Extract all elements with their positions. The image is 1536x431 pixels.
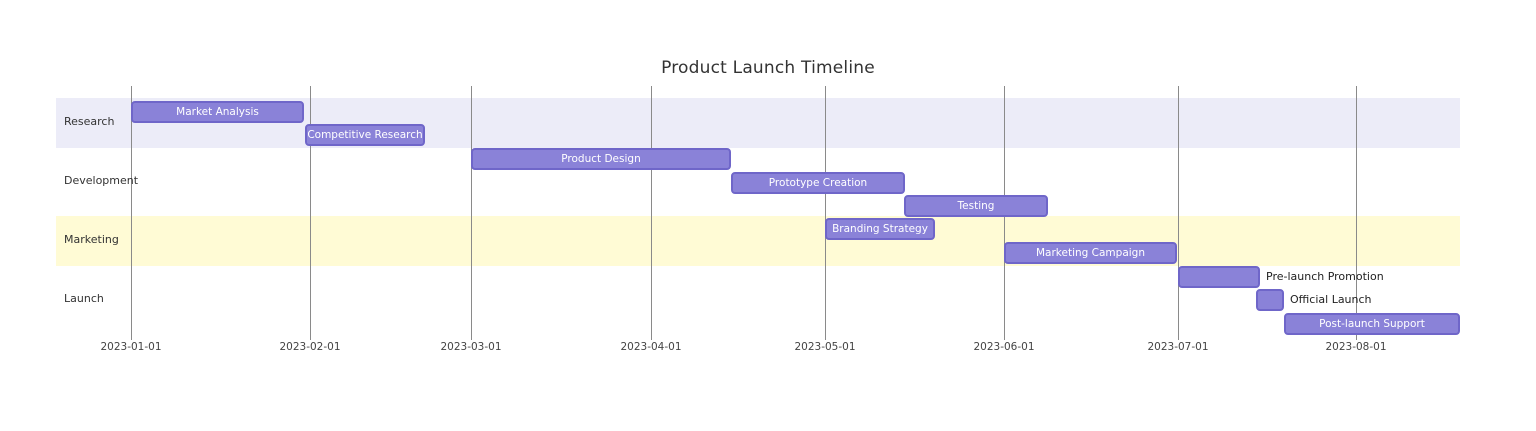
task-bar[interactable] [131, 101, 304, 123]
section-label-marketing: Marketing [64, 233, 119, 246]
task-bar[interactable] [1284, 313, 1460, 335]
section-label-launch: Launch [64, 292, 104, 305]
gantt-chart: Product Launch Timeline ResearchDevelopm… [0, 0, 1536, 431]
gridline [1356, 86, 1357, 340]
gridline [471, 86, 472, 340]
x-axis-tick-label: 2023-05-01 [794, 341, 855, 353]
task-bar[interactable] [904, 195, 1048, 217]
x-axis-tick-label: 2023-01-01 [100, 341, 161, 353]
x-axis-tick-label: 2023-02-01 [279, 341, 340, 353]
section-band-marketing [56, 216, 1460, 266]
x-axis-tick-label: 2023-07-01 [1147, 341, 1208, 353]
x-axis-tick-label: 2023-04-01 [620, 341, 681, 353]
gridline [131, 86, 132, 340]
task-label: Pre-launch Promotion [1266, 266, 1384, 288]
task-bar[interactable] [731, 172, 905, 194]
gridline [1178, 86, 1179, 340]
gridline [825, 86, 826, 340]
section-label-research: Research [64, 115, 114, 128]
task-bar[interactable] [1178, 266, 1260, 288]
task-bar[interactable] [1004, 242, 1177, 264]
section-label-development: Development [64, 174, 138, 187]
plot-area: ResearchDevelopmentMarketingLaunch2023-0… [0, 0, 1536, 431]
x-axis-tick-label: 2023-08-01 [1325, 341, 1386, 353]
x-axis-tick-label: 2023-06-01 [973, 341, 1034, 353]
gridline [651, 86, 652, 340]
task-bar[interactable] [1256, 289, 1284, 311]
task-label: Official Launch [1290, 289, 1372, 311]
task-bar[interactable] [825, 218, 935, 240]
task-bar[interactable] [471, 148, 731, 170]
x-axis-tick-label: 2023-03-01 [440, 341, 501, 353]
task-bar[interactable] [305, 124, 425, 146]
